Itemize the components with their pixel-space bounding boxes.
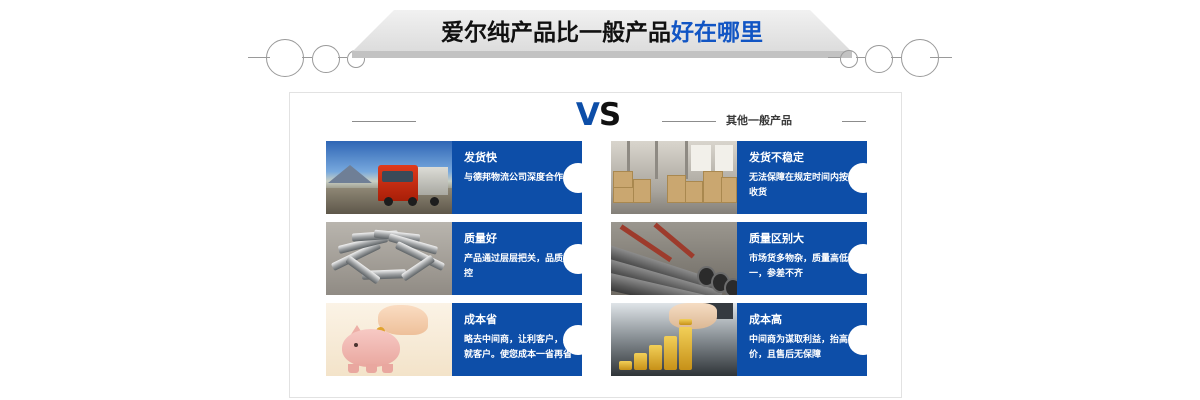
page-title-plain: 爱尔纯产品比一般产品 [441, 20, 671, 46]
versus-s: S [599, 97, 620, 133]
card-left-2[interactable]: 质量好 产品通过层层把关，品质监控 [326, 222, 582, 295]
decor-connector-r3 [828, 57, 840, 58]
versus-badge: VS [558, 95, 638, 135]
card-description: 市场货多物杂，质量高低不一，参差不齐 [749, 252, 857, 282]
title-banner: 爱尔纯产品比一般产品好在哪里 [352, 10, 852, 58]
page-title: 爱尔纯产品比一般产品好在哪里 [352, 19, 852, 47]
decor-circle-left-large [266, 39, 304, 77]
versus-line-right-inner [662, 121, 716, 122]
card-image-large-dark-pipes [611, 222, 737, 295]
header-rule-right [930, 57, 952, 58]
decor-circle-right-large [901, 39, 939, 77]
decor-circle-right-small [840, 50, 858, 68]
card-left-1[interactable]: 发货快 与德邦物流公司深度合作 [326, 141, 582, 214]
decor-circle-right-medium [865, 45, 893, 73]
card-body: 发货不稳定 无法保障在规定时间内按时收货 [737, 141, 867, 214]
card-image-red-truck-highway [326, 141, 452, 214]
versus-row: VS 其他一般产品 [290, 93, 903, 143]
decor-connector-r1 [891, 57, 901, 58]
decor-connector-l1 [302, 57, 312, 58]
card-title: 成本高 [749, 313, 782, 327]
card-title: 发货快 [464, 151, 497, 165]
card-image-steel-pipes-fan [326, 222, 452, 295]
left-column: 发货快 与德邦物流公司深度合作 [326, 141, 582, 384]
versus-line-right-outer [842, 121, 866, 122]
card-body: 质量区别大 市场货多物杂，质量高低不一，参差不齐 [737, 222, 867, 295]
card-right-2[interactable]: 质量区别大 市场货多物杂，质量高低不一，参差不齐 [611, 222, 867, 295]
card-title: 发货不稳定 [749, 151, 804, 165]
card-image-piggy-bank-coin [326, 303, 452, 376]
versus-v: V [576, 97, 599, 133]
decor-connector-r2 [856, 57, 865, 58]
comparison-panel: VS 其他一般产品 [289, 92, 902, 398]
card-body: 成本省 略去中间商，让利客户，成就客户。使您成本一省再省 [452, 303, 582, 376]
card-description: 产品通过层层把关，品质监控 [464, 252, 572, 282]
versus-line-left [352, 121, 416, 122]
card-left-3[interactable]: 成本省 略去中间商，让利客户，成就客户。使您成本一省再省 [326, 303, 582, 376]
right-column-label: 其他一般产品 [726, 113, 792, 129]
card-notch [563, 163, 582, 193]
card-right-1[interactable]: 发货不稳定 无法保障在规定时间内按时收货 [611, 141, 867, 214]
decor-circle-left-medium [312, 45, 340, 73]
page-title-accent: 好在哪里 [671, 20, 763, 46]
card-description: 略去中间商，让利客户，成就客户。使您成本一省再省 [464, 333, 572, 363]
cards-grid: 发货快 与德邦物流公司深度合作 [326, 141, 874, 389]
card-body: 质量好 产品通过层层把关，品质监控 [452, 222, 582, 295]
card-body: 发货快 与德邦物流公司深度合作 [452, 141, 582, 214]
card-description: 无法保障在规定时间内按时收货 [749, 171, 857, 201]
card-right-3[interactable]: 成本高 中间商为谋取利益，抬高物价，且售后无保障 [611, 303, 867, 376]
card-image-gold-coin-stacks [611, 303, 737, 376]
card-title: 成本省 [464, 313, 497, 327]
right-column: 发货不稳定 无法保障在规定时间内按时收货 [611, 141, 867, 384]
title-banner-base [352, 51, 852, 58]
card-body: 成本高 中间商为谋取利益，抬高物价，且售后无保障 [737, 303, 867, 376]
page-header: 爱尔纯产品比一般产品好在哪里 [0, 0, 1200, 82]
card-title: 质量区别大 [749, 232, 804, 246]
card-title: 质量好 [464, 232, 497, 246]
card-image-warehouse-interior [611, 141, 737, 214]
decor-connector-l2 [338, 57, 347, 58]
card-description: 与德邦物流公司深度合作 [464, 171, 572, 186]
card-description: 中间商为谋取利益，抬高物价，且售后无保障 [749, 333, 857, 363]
